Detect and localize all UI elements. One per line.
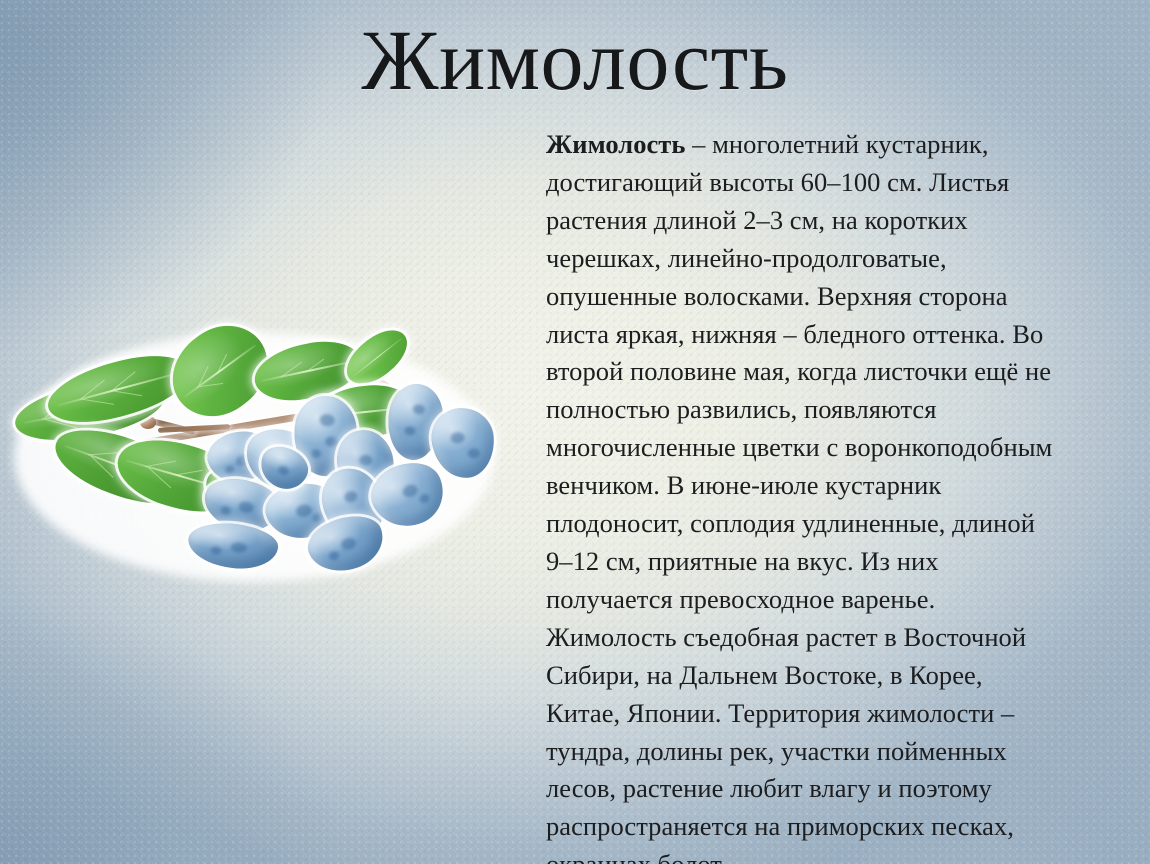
body-line: Жимолость – многолетний кустарник, <box>546 126 1116 164</box>
slide-body-text: Жимолость – многолетний кустарник, дости… <box>546 126 1116 864</box>
body-line: черешках, линейно-продолговатые, <box>546 240 1116 278</box>
body-line: Китае, Японии. Территория жимолости – <box>546 695 1116 733</box>
honeysuckle-sprig-image <box>8 322 508 606</box>
berry <box>430 406 497 480</box>
berry <box>186 520 279 572</box>
body-line: полностью развились, появляются <box>546 391 1116 429</box>
body-line: тундра, долины рек, участки пойменных <box>546 733 1116 771</box>
body-line: достигающий высоты 60–100 см. Листья <box>546 164 1116 202</box>
body-line: лесов, растение любит влагу и поэтому <box>546 770 1116 808</box>
body-line: Жимолость съедобная растет в Восточной <box>546 619 1116 657</box>
body-line: плодоносит, соплодия удлиненные, длиной <box>546 505 1116 543</box>
body-line-text: – многолетний кустарник, <box>685 129 988 159</box>
body-line: окраинах болот. <box>546 846 1116 864</box>
body-line: венчиком. В июне-июле кустарник <box>546 467 1116 505</box>
body-line: опушенные волосками. Верхняя сторона <box>546 278 1116 316</box>
body-line: многочисленные цветки с воронкоподобным <box>546 429 1116 467</box>
body-line: распространяется на приморских песках, <box>546 808 1116 846</box>
lead-word: Жимолость <box>546 129 685 159</box>
slide-title: Жимолость <box>0 8 1150 112</box>
body-line: растения длиной 2–3 см, на коротких <box>546 202 1116 240</box>
body-line: 9–12 см, приятные на вкус. Из них <box>546 543 1116 581</box>
body-line: получается превосходное варенье. <box>546 581 1116 619</box>
body-line: Сибири, на Дальнем Востоке, в Корее, <box>546 657 1116 695</box>
body-line: листа яркая, нижняя – бледного оттенка. … <box>546 316 1116 354</box>
body-line: второй половине мая, когда листочки ещё … <box>546 353 1116 391</box>
presentation-slide: Жимолость <box>0 0 1150 864</box>
